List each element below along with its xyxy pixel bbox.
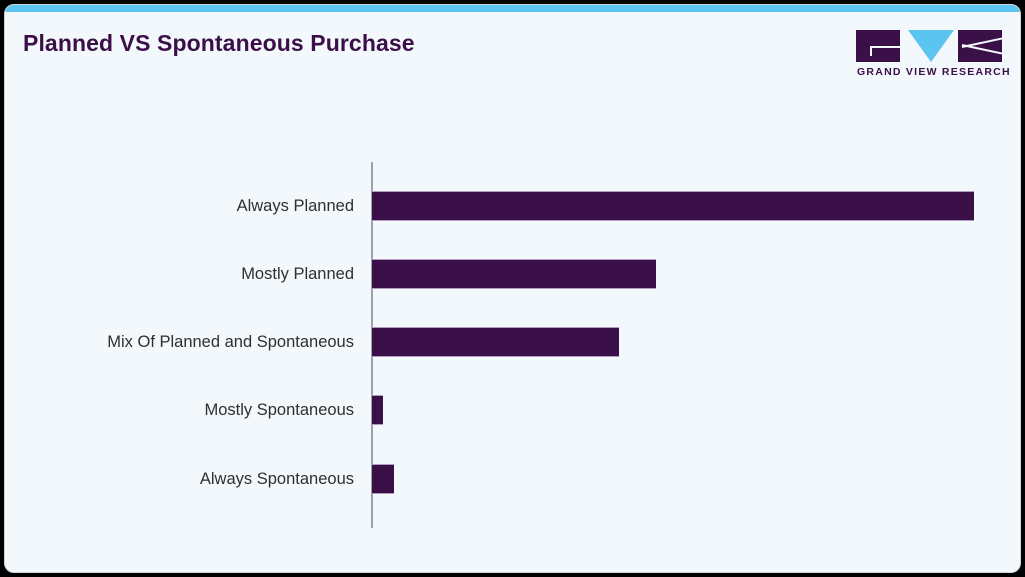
bar-label: Mostly Spontaneous bbox=[204, 395, 354, 425]
bar-row: Mix Of Planned and Spontaneous bbox=[5, 327, 1020, 357]
bar-row: Mostly Spontaneous bbox=[5, 395, 1020, 425]
bar-row: Mostly Planned bbox=[5, 259, 1020, 289]
bar-row: Always Spontaneous bbox=[5, 464, 1020, 494]
bar-mostly-spontaneous[interactable] bbox=[372, 395, 383, 425]
bar-label: Always Planned bbox=[237, 191, 354, 221]
bar-chart-plot: Always Planned Mostly Planned Mix Of Pla… bbox=[5, 5, 1020, 572]
bar-mostly-planned[interactable] bbox=[372, 259, 656, 289]
bar-always-planned[interactable] bbox=[372, 191, 974, 221]
bar-mix-of-planned-and-spontaneous[interactable] bbox=[372, 327, 619, 357]
bar-label: Mix Of Planned and Spontaneous bbox=[107, 327, 354, 357]
chart-card: Planned VS Spontaneous Purchase GRAND VI… bbox=[4, 4, 1021, 573]
bar-row: Always Planned bbox=[5, 191, 1020, 221]
bar-always-spontaneous[interactable] bbox=[372, 464, 394, 494]
bar-label: Mostly Planned bbox=[241, 259, 354, 289]
bar-label: Always Spontaneous bbox=[200, 464, 354, 494]
